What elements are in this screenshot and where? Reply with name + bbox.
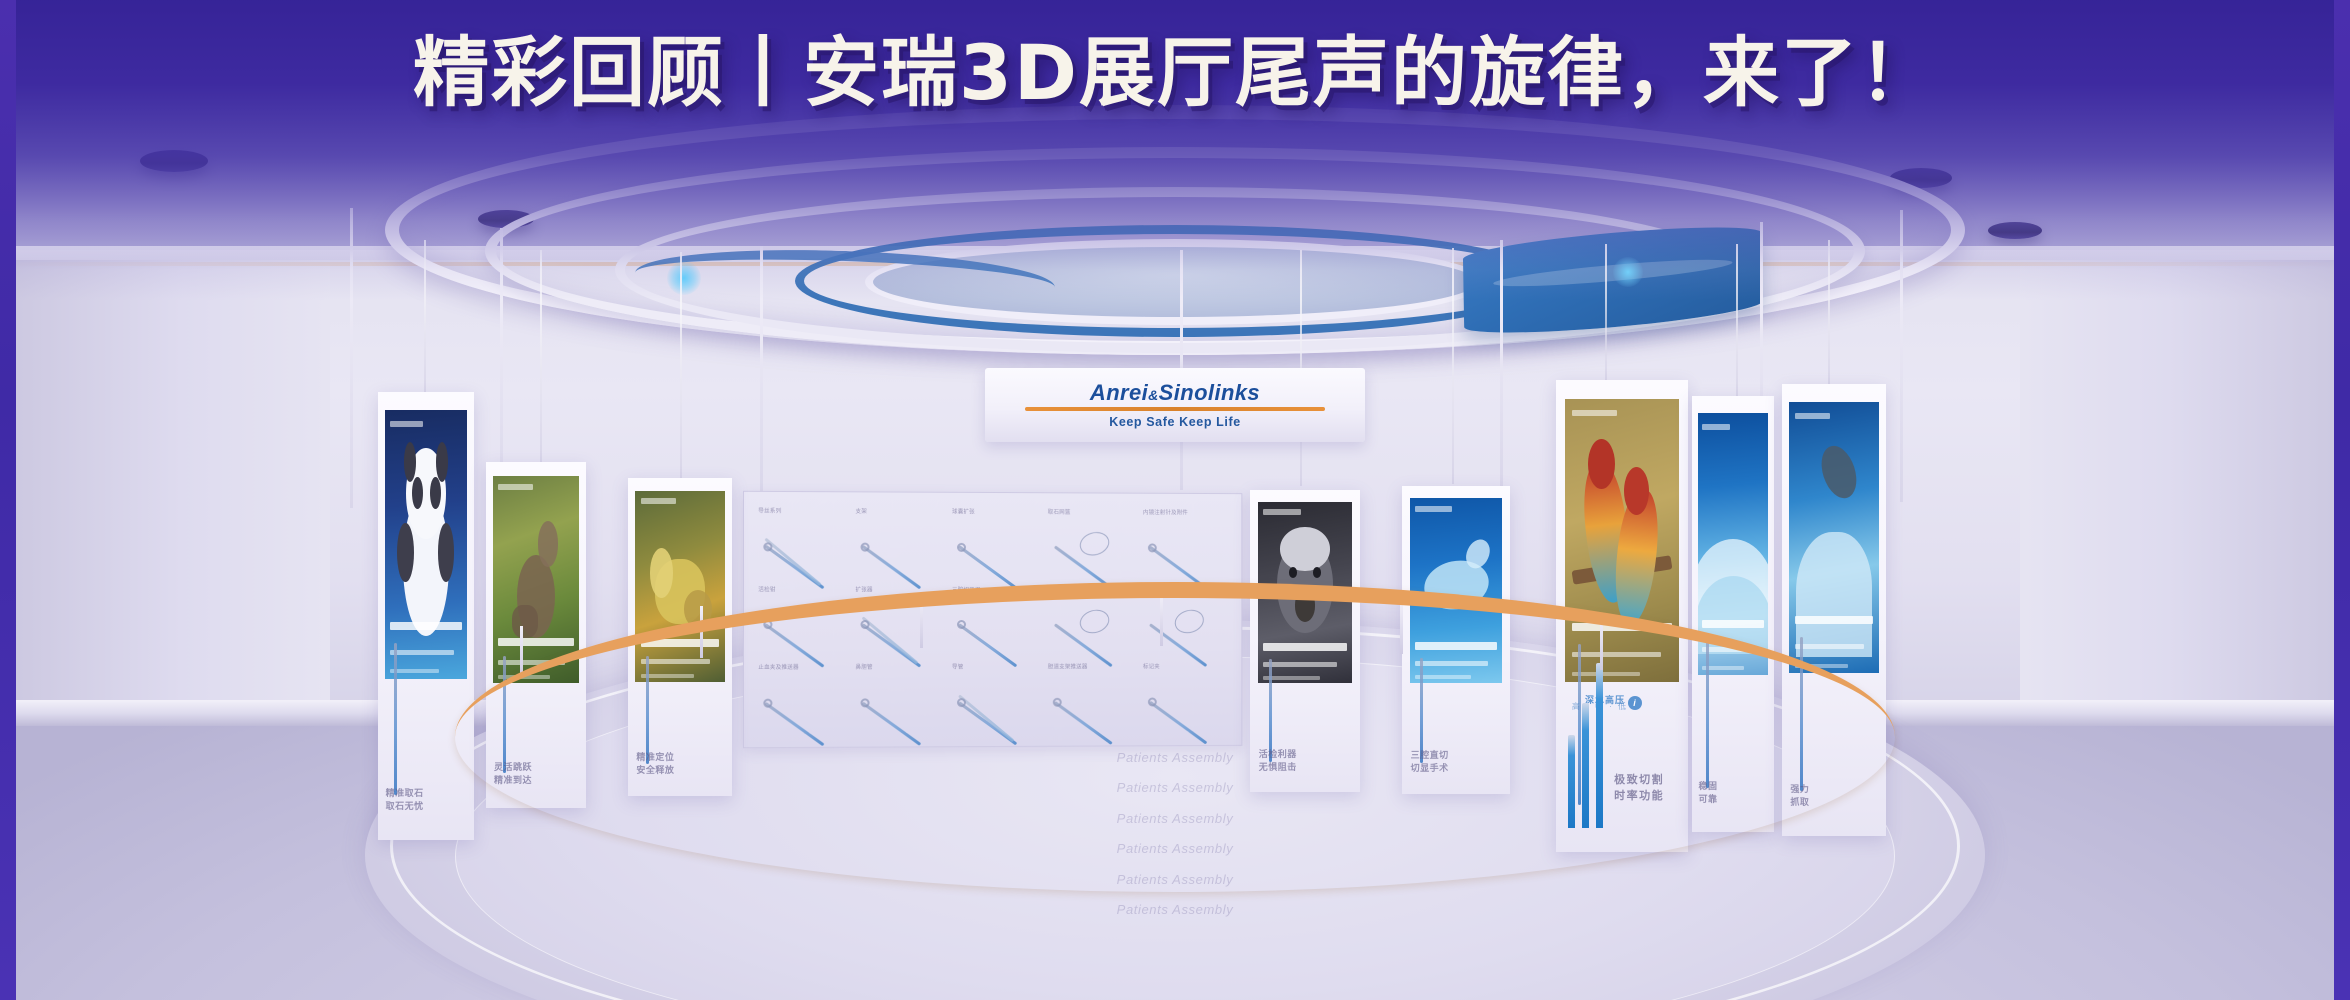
product-cell-label: 球囊扩张 xyxy=(952,507,975,515)
stage-orange-rail xyxy=(455,582,1895,892)
poster-ptitle xyxy=(390,622,463,630)
panel-hanging-wire xyxy=(1736,244,1738,400)
poster-plogo xyxy=(1572,410,1617,416)
panda-shape-icon xyxy=(397,523,414,582)
panel-hanging-wire xyxy=(1605,244,1607,386)
ceiling-drop-rod xyxy=(760,246,763,496)
poster-caption: 精准取石取石无忧 xyxy=(386,787,467,813)
brand-tagline: Keep Safe Keep Life xyxy=(1109,415,1241,429)
poster-ptitle xyxy=(498,638,574,646)
brand-ampersand: & xyxy=(1148,387,1159,403)
poster-ptitle xyxy=(1702,620,1764,628)
poster-plogo xyxy=(1795,413,1831,419)
bee-eater-birds-shape-icon xyxy=(1624,467,1649,515)
kangaroo-shape-icon xyxy=(512,605,538,638)
arctic-bird-shape-icon xyxy=(1816,442,1863,504)
poster-plogo xyxy=(390,421,423,427)
product-cell-label: 支架 xyxy=(855,506,867,514)
ceiling-drop-rod xyxy=(1500,240,1503,490)
product-cell[interactable]: 内镜注射针及附件 xyxy=(1139,508,1232,583)
poster-plogo xyxy=(1702,424,1730,430)
poster-artwork-panda xyxy=(385,410,468,679)
poster-caption-line2: 取石无忧 xyxy=(386,800,467,813)
panel-hanging-wire xyxy=(424,240,426,398)
product-cell[interactable]: 支架 xyxy=(851,506,946,582)
product-cell-label: 活检钳 xyxy=(758,584,775,592)
brand-swoosh xyxy=(1025,407,1325,411)
poster-plogo xyxy=(1415,506,1452,512)
badger-shape-icon xyxy=(1280,527,1329,570)
product-instrument-icon xyxy=(959,525,1030,569)
panda-shape-icon xyxy=(412,477,423,509)
panel-hanging-wire xyxy=(1452,248,1454,484)
poster-plogo xyxy=(641,498,677,504)
poster-plogo xyxy=(498,484,532,490)
ceiling-drop-rod xyxy=(350,208,353,508)
brand-banner: Anrei&Sinolinks Keep Safe Keep Life xyxy=(985,368,1365,442)
poster-caption-line1: 精准取石 xyxy=(386,787,467,800)
exhibition-banner: Anrei&Sinolinks Keep Safe Keep Life 导丝系列… xyxy=(0,0,2350,1000)
ceiling-spotlight xyxy=(140,150,208,172)
left-edge-border xyxy=(0,0,16,1000)
panda-shape-icon xyxy=(438,523,455,582)
exhibition-hall-scene: Anrei&Sinolinks Keep Safe Keep Life 导丝系列… xyxy=(0,0,2350,1000)
ceiling-drop-rod xyxy=(1900,210,1903,502)
kangaroo-shape-icon xyxy=(538,521,559,567)
poster-artwork-arctic xyxy=(1789,402,1878,673)
product-cell[interactable]: 球囊扩张 xyxy=(948,507,1042,583)
brand-name-secondary: Sinolinks xyxy=(1159,380,1260,405)
product-cell-label: 扩张器 xyxy=(855,584,872,592)
panel-hanging-wire xyxy=(680,252,682,486)
cyan-glow-left xyxy=(667,261,701,295)
poster-artwork-kangaroo xyxy=(493,476,579,684)
brand-name-primary: Anrei xyxy=(1090,380,1148,405)
panel-hanging-wire xyxy=(1828,240,1830,388)
wall-curve-right xyxy=(2020,250,2350,720)
cyan-glow-right xyxy=(1613,257,1643,287)
poster-ptitle xyxy=(1795,616,1874,624)
right-edge-border xyxy=(2334,0,2350,1000)
product-instrument-icon xyxy=(1150,526,1220,570)
product-instrument-icon xyxy=(1055,525,1126,569)
product-cell-label: 内镜注射针及附件 xyxy=(1143,508,1188,516)
product-cell[interactable]: 导丝系列 xyxy=(754,506,849,582)
page-title: 精彩回顾丨安瑞3D展厅尾声的旋律，来了！ xyxy=(0,32,2350,114)
product-instrument-icon xyxy=(766,524,838,568)
wall-curve-left xyxy=(0,250,330,720)
product-instrument-icon xyxy=(863,525,935,569)
frog-shape-icon xyxy=(650,548,673,598)
product-cell-label: 取石网篮 xyxy=(1048,507,1071,515)
panel-hanging-wire xyxy=(540,250,542,468)
badger-shape-icon xyxy=(1313,567,1322,578)
panda-shape-icon xyxy=(436,442,448,482)
poster-plogo xyxy=(1263,509,1301,515)
brand-name: Anrei&Sinolinks xyxy=(1090,382,1260,404)
poster-panel-panda[interactable]: 精准取石取石无忧 xyxy=(378,392,474,840)
panda-shape-icon xyxy=(430,477,441,509)
poster-product-illustration xyxy=(386,643,411,795)
product-cell[interactable]: 取石网篮 xyxy=(1044,507,1137,583)
ceiling-spotlight xyxy=(1988,222,2042,239)
product-cell-label: 导丝系列 xyxy=(758,506,781,514)
